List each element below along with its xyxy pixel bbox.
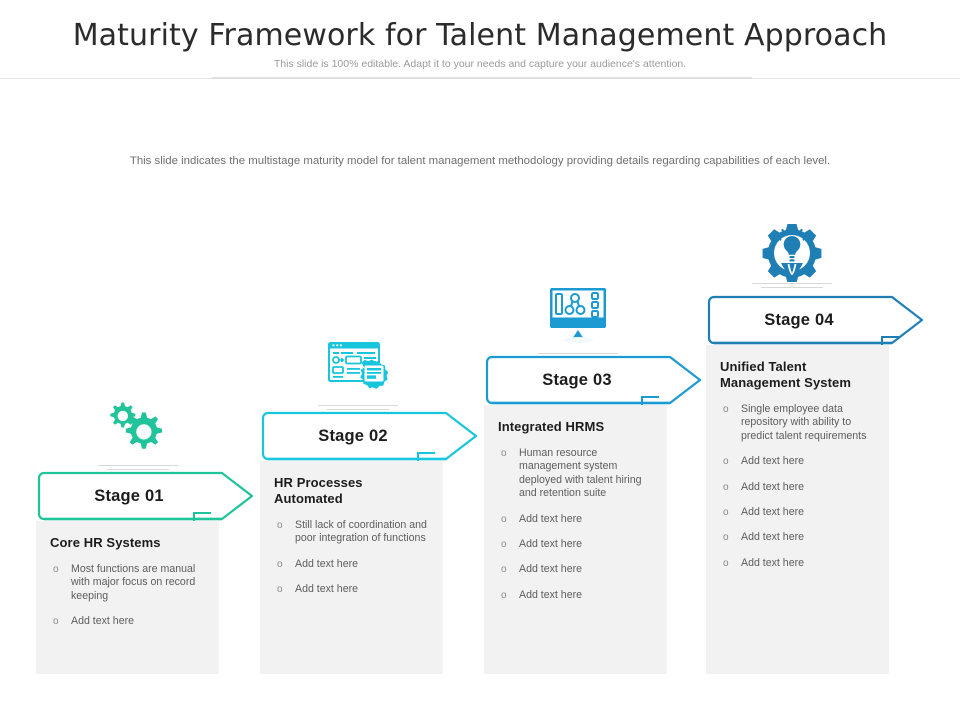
bullet-icon: o	[53, 563, 59, 576]
list-item: oAdd text here	[498, 538, 653, 551]
bullet-icon: o	[723, 557, 729, 570]
list-item: oSingle employee data repository with ab…	[720, 403, 875, 443]
list-item: oMost functions are manual with major fo…	[50, 563, 205, 603]
stage-bullet-list-2: oStill lack of coordination and poor int…	[274, 519, 429, 597]
bullet-icon: o	[723, 531, 729, 544]
bullet-text: Add text here	[519, 538, 582, 550]
stage-bullet-list-4: oSingle employee data repository with ab…	[720, 403, 875, 570]
page-subtitle: This slide is 100% editable. Adapt it to…	[0, 58, 960, 70]
list-item: oStill lack of coordination and poor int…	[274, 519, 429, 546]
bullet-icon: o	[501, 447, 507, 460]
stage-panel-1: Core HR Systems oMost functions are manu…	[36, 521, 219, 674]
stage-connector-elbow-1	[193, 512, 211, 514]
gears-icon	[94, 396, 182, 472]
bullet-text: Most functions are manual with major foc…	[71, 563, 195, 602]
bullet-icon: o	[501, 563, 507, 576]
bullet-icon: o	[501, 513, 507, 526]
bullet-text: Add text here	[71, 615, 134, 627]
stage-connector-elbow-2	[417, 452, 435, 454]
stage-badge-2[interactable]: Stage 02	[260, 410, 484, 462]
bullet-icon: o	[277, 519, 283, 532]
list-item: oAdd text here	[720, 481, 875, 494]
stage-bullet-list-3: oHuman resource management system deploy…	[498, 447, 653, 602]
bullet-icon: o	[723, 506, 729, 519]
stage-badge-4[interactable]: Stage 04	[706, 294, 930, 346]
gear-lightbulb-icon	[748, 214, 836, 290]
stage-panel-4: Unified Talent Management System oSingle…	[706, 345, 889, 674]
slide-canvas: Maturity Framework for Talent Management…	[0, 0, 960, 720]
bullet-icon: o	[723, 455, 729, 468]
list-item: oAdd text here	[50, 615, 205, 628]
bullet-text: Add text here	[519, 589, 582, 601]
list-item: oAdd text here	[720, 531, 875, 544]
bullet-icon: o	[501, 538, 507, 551]
bullet-text: Human resource management system deploye…	[519, 447, 642, 499]
bullet-text: Add text here	[741, 481, 804, 493]
stage-badge-3[interactable]: Stage 03	[484, 354, 708, 406]
stage-heading-3: Integrated HRMS	[498, 419, 653, 435]
bullet-icon: o	[723, 481, 729, 494]
list-item: oAdd text here	[498, 563, 653, 576]
bullet-text: Add text here	[741, 506, 804, 518]
slide-description: This slide indicates the multistage matu…	[60, 153, 900, 169]
stage-badge-label-4: Stage 04	[706, 294, 892, 346]
list-item: oHuman resource management system deploy…	[498, 447, 653, 501]
page-title: Maturity Framework for Talent Management…	[0, 18, 960, 53]
bullet-icon: o	[723, 403, 729, 416]
bullet-text: Add text here	[519, 513, 582, 525]
bullet-text: Add text here	[741, 531, 804, 543]
bullet-text: Add text here	[295, 583, 358, 595]
bullet-text: Single employee data repository with abi…	[741, 403, 866, 442]
bullet-text: Add text here	[295, 558, 358, 570]
bullet-text: Add text here	[741, 557, 804, 569]
stage-connector-elbow-3	[641, 396, 659, 398]
list-item: oAdd text here	[498, 513, 653, 526]
stage-heading-4: Unified Talent Management System	[720, 359, 875, 391]
bullet-icon: o	[277, 558, 283, 571]
list-item: oAdd text here	[720, 506, 875, 519]
icon-base-lines	[318, 402, 398, 410]
bullet-text: Add text here	[741, 455, 804, 467]
slide-header: Maturity Framework for Talent Management…	[0, 0, 960, 78]
stage-heading-2: HR Processes Automated	[274, 475, 429, 507]
list-item: oAdd text here	[274, 558, 429, 571]
bullet-text: Still lack of coordination and poor inte…	[295, 519, 427, 544]
stage-panel-2: HR Processes Automated oStill lack of co…	[260, 461, 443, 674]
list-item: oAdd text here	[720, 557, 875, 570]
stage-badge-1[interactable]: Stage 01	[36, 470, 260, 522]
bullet-text: Add text here	[519, 563, 582, 575]
stage-panel-3: Integrated HRMS oHuman resource manageme…	[484, 405, 667, 674]
list-item: oAdd text here	[720, 455, 875, 468]
stage-connector-elbow-4	[881, 336, 899, 338]
header-divider-accent	[212, 77, 752, 79]
icon-base-lines	[752, 280, 832, 288]
icon-base-lines	[98, 462, 178, 470]
monitor-network-icon	[534, 284, 622, 360]
workflow-badge-icon	[314, 336, 402, 412]
list-item: oAdd text here	[498, 589, 653, 602]
bullet-icon: o	[501, 589, 507, 602]
bullet-icon: o	[53, 615, 59, 628]
stage-bullet-list-1: oMost functions are manual with major fo…	[50, 563, 205, 629]
list-item: oAdd text here	[274, 583, 429, 596]
bullet-icon: o	[277, 583, 283, 596]
stage-heading-1: Core HR Systems	[50, 535, 205, 551]
